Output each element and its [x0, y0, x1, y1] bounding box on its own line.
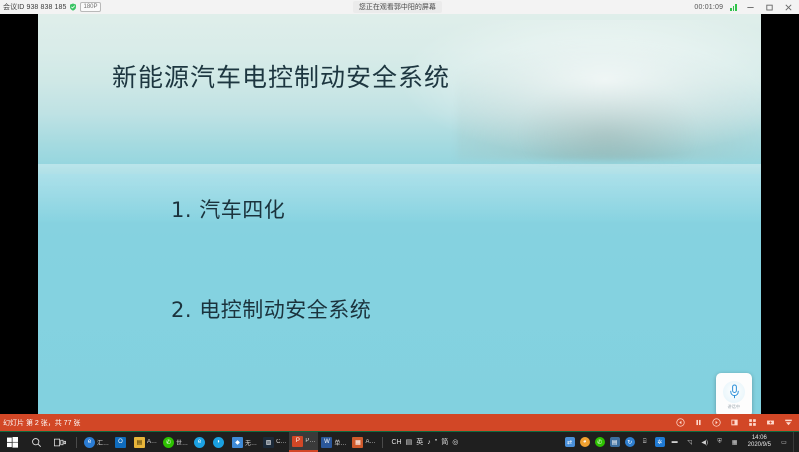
wechat-icon: ✆: [163, 437, 174, 448]
notes-icon[interactable]: [730, 418, 739, 427]
slide-background-water: [38, 164, 761, 224]
outlook-icon: O: [115, 437, 126, 448]
volume-tray-icon[interactable]: ◀): [700, 437, 710, 447]
edge-icon: e: [84, 437, 95, 448]
taskbar-app-label: 单…: [334, 438, 346, 447]
window-controls-group: 00:01:09: [694, 1, 799, 13]
update-tray-icon[interactable]: ↻: [625, 437, 635, 447]
tone-icon[interactable]: ♪: [427, 439, 431, 446]
clock-time: 14:06: [752, 435, 767, 442]
meeting-top-bar: 会议ID 938 838 185 180P 您正在观看郭中阳的屏幕 00:01:…: [0, 0, 799, 15]
taskbar-app-label: P…: [305, 438, 315, 444]
previous-slide-icon[interactable]: [676, 418, 685, 427]
taskbar-app-label: 世…: [176, 438, 188, 447]
taskbar-app-label: 汇…: [97, 438, 109, 447]
taskbar-divider: [76, 437, 77, 448]
taskbar-app-outlook[interactable]: O: [112, 433, 131, 451]
taskbar-app-powerpoint[interactable]: P P…: [289, 432, 318, 452]
taskbar-clock[interactable]: 14:06 2020/9/5: [745, 435, 774, 449]
wechat-tray-icon[interactable]: ✆: [595, 437, 605, 447]
taskbar-app-wechat[interactable]: ✆ 世…: [160, 433, 191, 451]
ie-icon: e: [194, 437, 205, 448]
taskbar-app-word[interactable]: W 单…: [318, 433, 349, 451]
powerpoint-status-bar: 幻灯片 第 2 张，共 77 张: [0, 414, 799, 431]
minimize-button[interactable]: [744, 1, 756, 13]
clock-date: 2020/9/5: [748, 442, 771, 449]
microphone-widget[interactable]: 讲话中: [716, 373, 752, 417]
more-options-icon[interactable]: [784, 418, 793, 427]
ime-settings-icon[interactable]: ◎: [452, 438, 458, 446]
usb-tray-icon[interactable]: ⌸: [640, 437, 650, 447]
microphone-label: 讲话中: [728, 404, 740, 410]
bluetooth-tray-icon[interactable]: ✲: [655, 437, 665, 447]
ime-mode-label[interactable]: CH: [391, 439, 401, 446]
word-icon: W: [321, 437, 332, 448]
sharing-notice: 您正在观看郭中阳的屏幕: [353, 1, 442, 13]
presentation-slide: 新能源汽车电控制动安全系统 1. 汽车四化 2. 电控制动安全系统: [38, 14, 761, 417]
battery-tray-icon[interactable]: ▬: [670, 437, 680, 447]
slide-bullet-1: 1. 汽车四化: [171, 194, 285, 224]
status-bar-controls: [676, 418, 799, 427]
task-view-icon[interactable]: [48, 432, 72, 452]
quality-badge[interactable]: 180P: [80, 2, 100, 12]
meeting-info-group: 会议ID 938 838 185 180P: [0, 2, 101, 12]
keyboard-icon[interactable]: ▤: [406, 438, 413, 446]
sharing-notice-area: 您正在观看郭中阳的屏幕: [101, 1, 695, 13]
security-tray-icon[interactable]: ⛨: [715, 437, 725, 447]
taskbar-app-label: C…: [276, 439, 286, 445]
ime-lang-label[interactable]: 英: [416, 437, 423, 447]
notes-app-icon: ◆: [232, 437, 243, 448]
network-tray-icon[interactable]: ▤: [610, 437, 620, 447]
share-tray-icon[interactable]: ⇄: [565, 437, 575, 447]
taskbar-app-filemanager[interactable]: ▤ A…: [131, 433, 160, 451]
taskbar-app-photoshop[interactable]: ▨ C…: [260, 433, 289, 451]
ime-toolbar[interactable]: CH ▤ 英 ♪ " 简 ◎: [387, 437, 462, 447]
taskbar-app-ie[interactable]: e: [191, 433, 210, 451]
taskbar-app-qqbrowser[interactable]: ◗: [210, 433, 229, 451]
pause-icon[interactable]: [694, 418, 703, 427]
signal-strength-icon: [730, 3, 737, 11]
slide-title: 新能源汽车电控制动安全系统: [112, 58, 450, 94]
qq-browser-icon: ◗: [213, 437, 224, 448]
slide-bullet-2: 2. 电控制动安全系统: [171, 294, 371, 324]
action-center-icon[interactable]: ▭: [779, 437, 789, 447]
firefox-tray-icon[interactable]: ◕: [580, 437, 590, 447]
next-slide-icon[interactable]: [712, 418, 721, 427]
taskbar-divider-2: [382, 437, 383, 448]
taskbar-app-edge[interactable]: e 汇…: [81, 433, 112, 451]
shared-screen-stage: 新能源汽车电控制动安全系统 1. 汽车四化 2. 电控制动安全系统 讲话中: [0, 14, 799, 431]
system-tray: ⇄ ◕ ✆ ▤ ↻ ⌸ ✲ ▬ ◹ ◀) ⛨ ▦ 14:06 2020/9/5 …: [565, 435, 793, 449]
slide-counter: 幻灯片 第 2 张，共 77 张: [0, 418, 80, 428]
picture-icon: ▦: [352, 437, 363, 448]
taskbar-app-label: A…: [365, 439, 375, 445]
zoom-icon[interactable]: [766, 418, 775, 427]
meeting-id-label: 会议ID 938 838 185: [3, 2, 66, 12]
search-icon[interactable]: [24, 432, 48, 452]
shield-icon: [69, 3, 77, 11]
microphone-icon[interactable]: [723, 381, 745, 403]
taskbar-app-label: A…: [147, 439, 157, 445]
close-button[interactable]: [782, 1, 794, 13]
chart-tray-icon[interactable]: ▦: [730, 437, 740, 447]
screen: 会议ID 938 838 185 180P 您正在观看郭中阳的屏幕 00:01:…: [0, 0, 799, 451]
taskbar-app-notes[interactable]: ◆ 无…: [229, 433, 260, 451]
windows-taskbar: e 汇… O ▤ A… ✆ 世… e ◗ ◆ 无… ▨ C…: [0, 431, 799, 452]
ime-simplified-label[interactable]: 简: [441, 437, 448, 447]
photoshop-icon: ▨: [263, 437, 274, 448]
maximize-button[interactable]: [763, 1, 775, 13]
taskbar-app-picture[interactable]: ▦ A…: [349, 433, 378, 451]
taskbar-app-label: 无…: [245, 438, 257, 447]
show-desktop-icon[interactable]: [793, 432, 799, 452]
meeting-timer: 00:01:09: [694, 4, 723, 11]
filemanager-icon: ▤: [134, 437, 145, 448]
grid-view-icon[interactable]: [748, 418, 757, 427]
wifi-tray-icon[interactable]: ◹: [685, 437, 695, 447]
slide-background-mist: [371, 20, 761, 170]
punctuation-icon[interactable]: ": [435, 439, 438, 446]
windows-start-icon[interactable]: [0, 432, 24, 452]
powerpoint-icon: P: [292, 436, 303, 447]
